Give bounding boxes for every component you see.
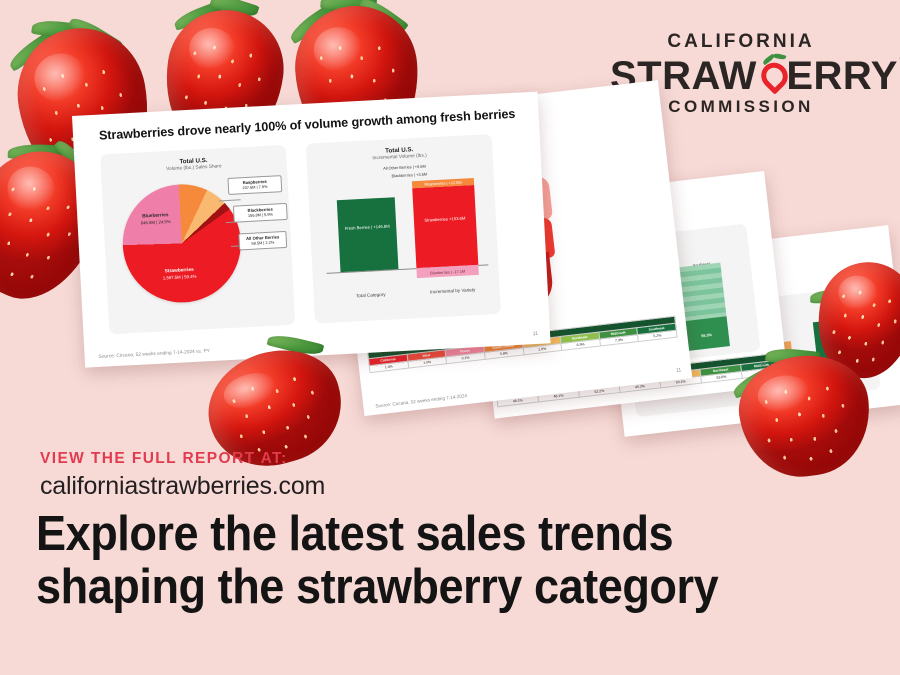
pie-callout-blackberries-value: 156.8M | 5.9% [248, 212, 273, 218]
leaf-icon [6, 27, 62, 72]
leaf-icon [68, 13, 123, 55]
bar-strawberries: Strawberries +153.6M [412, 185, 478, 268]
report-eyebrow: VIEW THE FULL REPORT AT: [40, 450, 288, 468]
logo-strawberry-post: ERRY [786, 54, 898, 98]
slide1-source: Source: Circana, 52 weeks ending 7-14-20… [99, 349, 211, 360]
volume-share-panel: Total U.S. Volume (lbs.) Sales Share Blu… [100, 145, 295, 334]
leaf-icon [287, 0, 342, 44]
bar-category-label-incremental: Incremental by Variety [410, 286, 496, 295]
bar-strawberries-label: Strawberries +153.6M [424, 216, 465, 223]
slide3-page-number: 14 [760, 362, 766, 369]
pie-callout-all-other-berries: All Other Berries 58.5M | 2.2% [238, 231, 287, 250]
promo-headline: Explore the latest sales trends shaping … [36, 508, 800, 614]
strawberry-heart-icon [758, 57, 792, 93]
report-url[interactable]: californiastrawberries.com [40, 472, 325, 501]
slide2-source: Source: Circana, 52 weeks ending 7-14-20… [375, 393, 467, 409]
leaf-icon [31, 18, 85, 41]
bar-blackberries-label: Blackberries | +3.5M [391, 172, 427, 179]
bar-blueberries-negative: Blueberries | -17.1M [416, 265, 478, 278]
slide1-page-number: 11 [533, 331, 539, 337]
logo-line-california: CALIFORNIA [610, 32, 872, 51]
bar-fresh-berries: Fresh Berries | +146.8M [337, 197, 399, 272]
leaf-icon [358, 0, 408, 36]
bar-conventional-3 [813, 320, 841, 378]
incremental-volume-panel: Total U.S. Incremental Volume (lbs.) Fre… [306, 134, 501, 323]
leaf-icon [8, 143, 64, 160]
pie-label-strawberries-value: 1,567.5M | 59.4% [163, 274, 197, 281]
leaf-icon [209, 0, 259, 21]
pie-callout-raspberries-value: 207.6M | 7.9% [242, 184, 267, 190]
pie-label-blueberries-value: 646.8M | 24.5% [141, 219, 171, 226]
promo-headline-line2: shaping the strawberry category [36, 561, 800, 614]
bar-fresh-berries-label: Fresh Berries | +146.8M [345, 224, 390, 231]
promo-graphic: CALIFORNIA STRAWBERRY™ COMMISSION organi… [0, 0, 900, 675]
bar-category-label-total: Total Category [332, 291, 410, 300]
pie-callout-all-other-value: 58.5M | 2.2% [251, 240, 274, 246]
slide-card-volume-growth[interactable]: Strawberries drove nearly 100% of volume… [72, 92, 551, 368]
slide2-page-number: 11 [676, 367, 682, 374]
bar-blueberries-label: Blueberries | -17.1M [417, 268, 479, 276]
pie-callout-blackberries: Blackberries 156.8M | 5.9% [233, 203, 288, 222]
leaf-icon [320, 0, 377, 12]
promo-headline-line1: Explore the latest sales trends [36, 508, 800, 561]
pie-callout-raspberries: Raspberries 207.6M | 7.9% [227, 175, 282, 194]
bar-all-other-berries-label: All Other Berries | +0.6M [383, 164, 426, 171]
leaf-icon [172, 0, 228, 31]
